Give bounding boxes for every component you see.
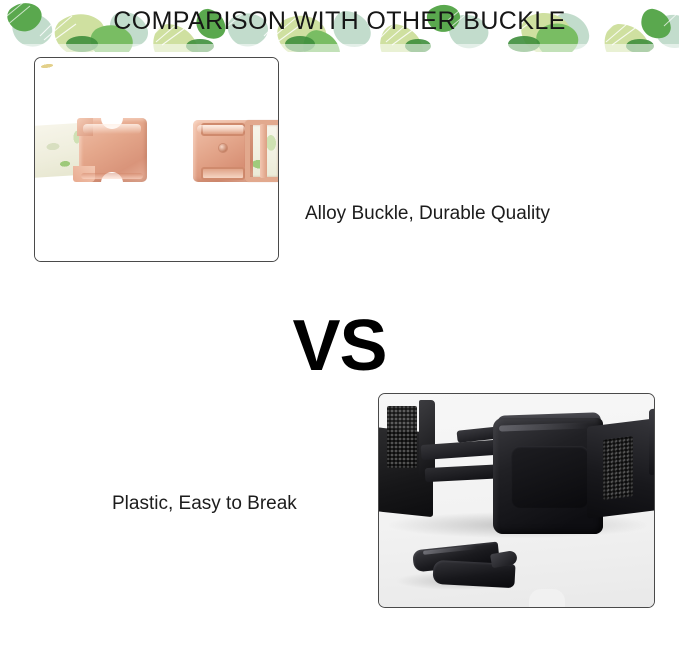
left-webbing-mesh (387, 406, 417, 468)
male-buckle-highlight (83, 124, 141, 134)
rose-gold-alloy-buckle-photo (35, 58, 278, 261)
slider-center-bar (260, 124, 267, 178)
right-strap-edge (649, 406, 655, 475)
male-buckle-lower-lip (81, 173, 143, 179)
female-buckle-highlight (197, 125, 245, 133)
alloy-buckle-female-half (193, 116, 279, 186)
vs-label: VS (0, 305, 679, 387)
buckle-body-front-panel (511, 446, 589, 508)
plastic-buckle-photo-frame (378, 393, 655, 608)
female-buckle-rivet (219, 144, 227, 152)
female-buckle-bottom-arm (201, 167, 245, 180)
right-webbing-mesh (603, 436, 633, 500)
alloy-buckle-caption: Alloy Buckle, Durable Quality (305, 203, 550, 225)
page-title: COMPARISON WITH OTHER BUCKLE (0, 7, 679, 36)
female-buckle-slider (245, 116, 279, 186)
header-banner: COMPARISON WITH OTHER BUCKLE (0, 0, 679, 52)
buckle-body-bottom-notch (529, 589, 565, 607)
plastic-buckle-caption: Plastic, Easy to Break (112, 493, 297, 515)
alloy-buckle-photo-frame (34, 57, 279, 262)
left-strap-edge (419, 400, 435, 476)
black-plastic-buckle-photo (379, 394, 654, 607)
alloy-buckle-male-half (73, 118, 149, 182)
strap-leaf-accent (34, 57, 60, 76)
